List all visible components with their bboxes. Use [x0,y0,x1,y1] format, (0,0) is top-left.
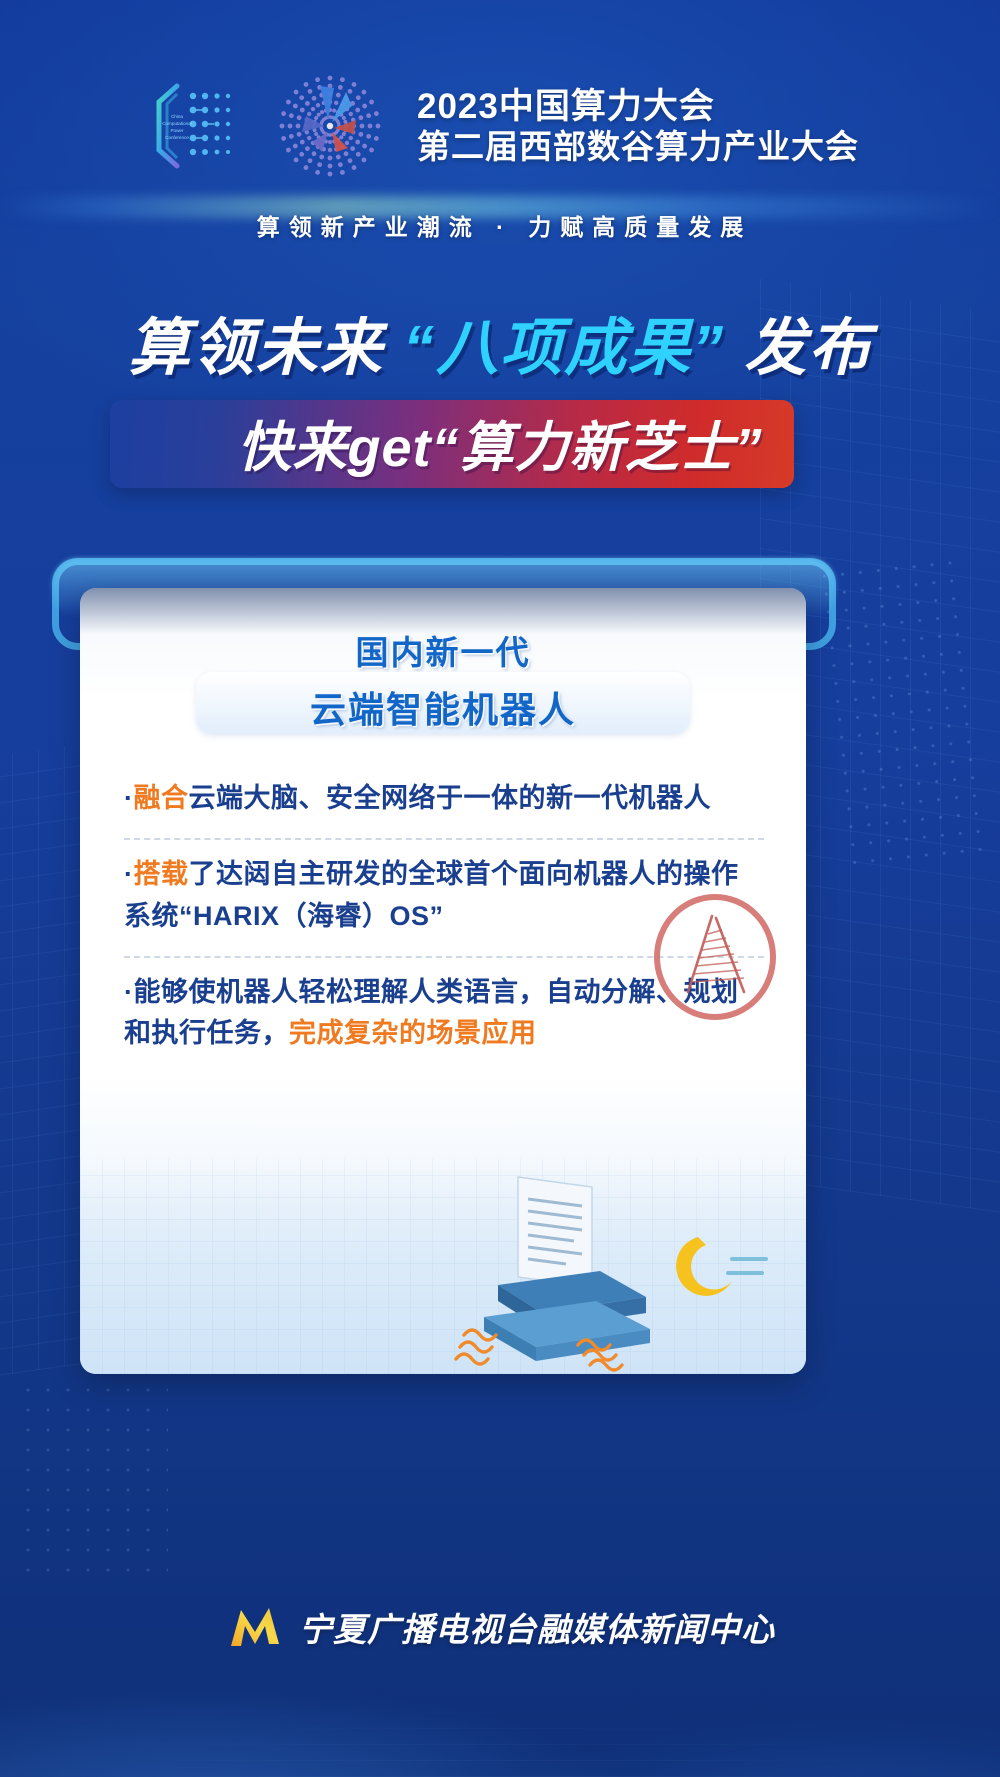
svg-text:Computational: Computational [162,121,192,126]
tagline-banner: 算领新产业潮流 · 力赋高质量发展 [0,196,1000,252]
bullet-marker: · [124,783,134,813]
list-item: ·搭载了达闼自主研发的全球首个面向机器人的操作系统“HARIX（海睿）OS” [124,842,764,954]
headline-part-1: 算领未来 [128,314,384,383]
header-title-block: 2023中国算力大会 第二届西部数谷算力产业大会 [417,86,859,167]
divider [124,838,764,840]
poster-header: China Computational Power Conference [0,62,1000,190]
card-title-line1: 国内新一代 [80,626,806,674]
bullet-highlight: 融合 [134,783,189,813]
footer-organization-name: 宁夏广播电视台融媒体新闻中心 [299,1603,775,1651]
poster-footer: 宁夏广播电视台融媒体新闻中心 [0,1592,1000,1662]
svg-text:China: China [171,114,183,119]
ningxia-broadcasting-logo-icon [225,1600,285,1654]
list-item: ·能够使机器人轻松理解人类语言，自动分解、规划和执行任务，完成复杂的场景应用 [124,960,764,1072]
background-dots-right [815,554,986,867]
background-dots-left [18,1380,168,1580]
conference-hexagon-logo-icon: China Computational Power Conference [141,72,249,180]
bullet-marker: · [124,859,134,889]
main-headline-line2: 快来get“算力新芝士” [0,403,1000,482]
headline-part-3: 发布 [744,314,872,383]
conference-title-line2: 第二届西部数谷算力产业大会 [417,127,859,167]
radial-fan-data-logo-icon [271,70,389,182]
achievement-card: 国内新一代 云端智能机器人 ·融合云端大脑、安全网络于一体的新一代机器人 ·搭载… [80,588,806,1374]
card-title-line2: 云端智能机器人 [80,681,806,733]
svg-text:Conference: Conference [165,135,189,140]
svg-text:Power: Power [170,128,183,133]
card-illustration [80,1159,806,1374]
bullet-text: 了达闼自主研发的全球首个面向机器人的操作系统“HARIX（海睿）OS” [124,859,739,931]
bullet-text: 能够使机器人轻松理解人类语言，自动分解、 [134,977,684,1007]
conference-title-line1: 2023中国算力大会 [417,86,859,127]
bullet-highlight-2: 完成复杂的场景应用 [289,1018,537,1048]
background-wave-lines [0,1547,1000,1777]
divider [124,956,764,958]
card-bullet-list: ·融合云端大脑、安全网络于一体的新一代机器人 ·搭载了达闼自主研发的全球首个面向… [124,766,764,1071]
tagline-text: 算领新产业潮流 · 力赋高质量发展 [0,208,1000,242]
bullet-highlight: 搭载 [134,859,189,889]
bullet-marker: · [124,977,134,1007]
document-pedestal-icon [80,1159,806,1374]
headline-part-2: “八项成果” [403,314,725,383]
main-headline-line1: 算领未来 “八项成果” 发布 [0,297,1000,387]
list-item: ·融合云端大脑、安全网络于一体的新一代机器人 [124,766,764,836]
bullet-text: 云端大脑、安全网络于一体的新一代机器人 [189,783,712,813]
